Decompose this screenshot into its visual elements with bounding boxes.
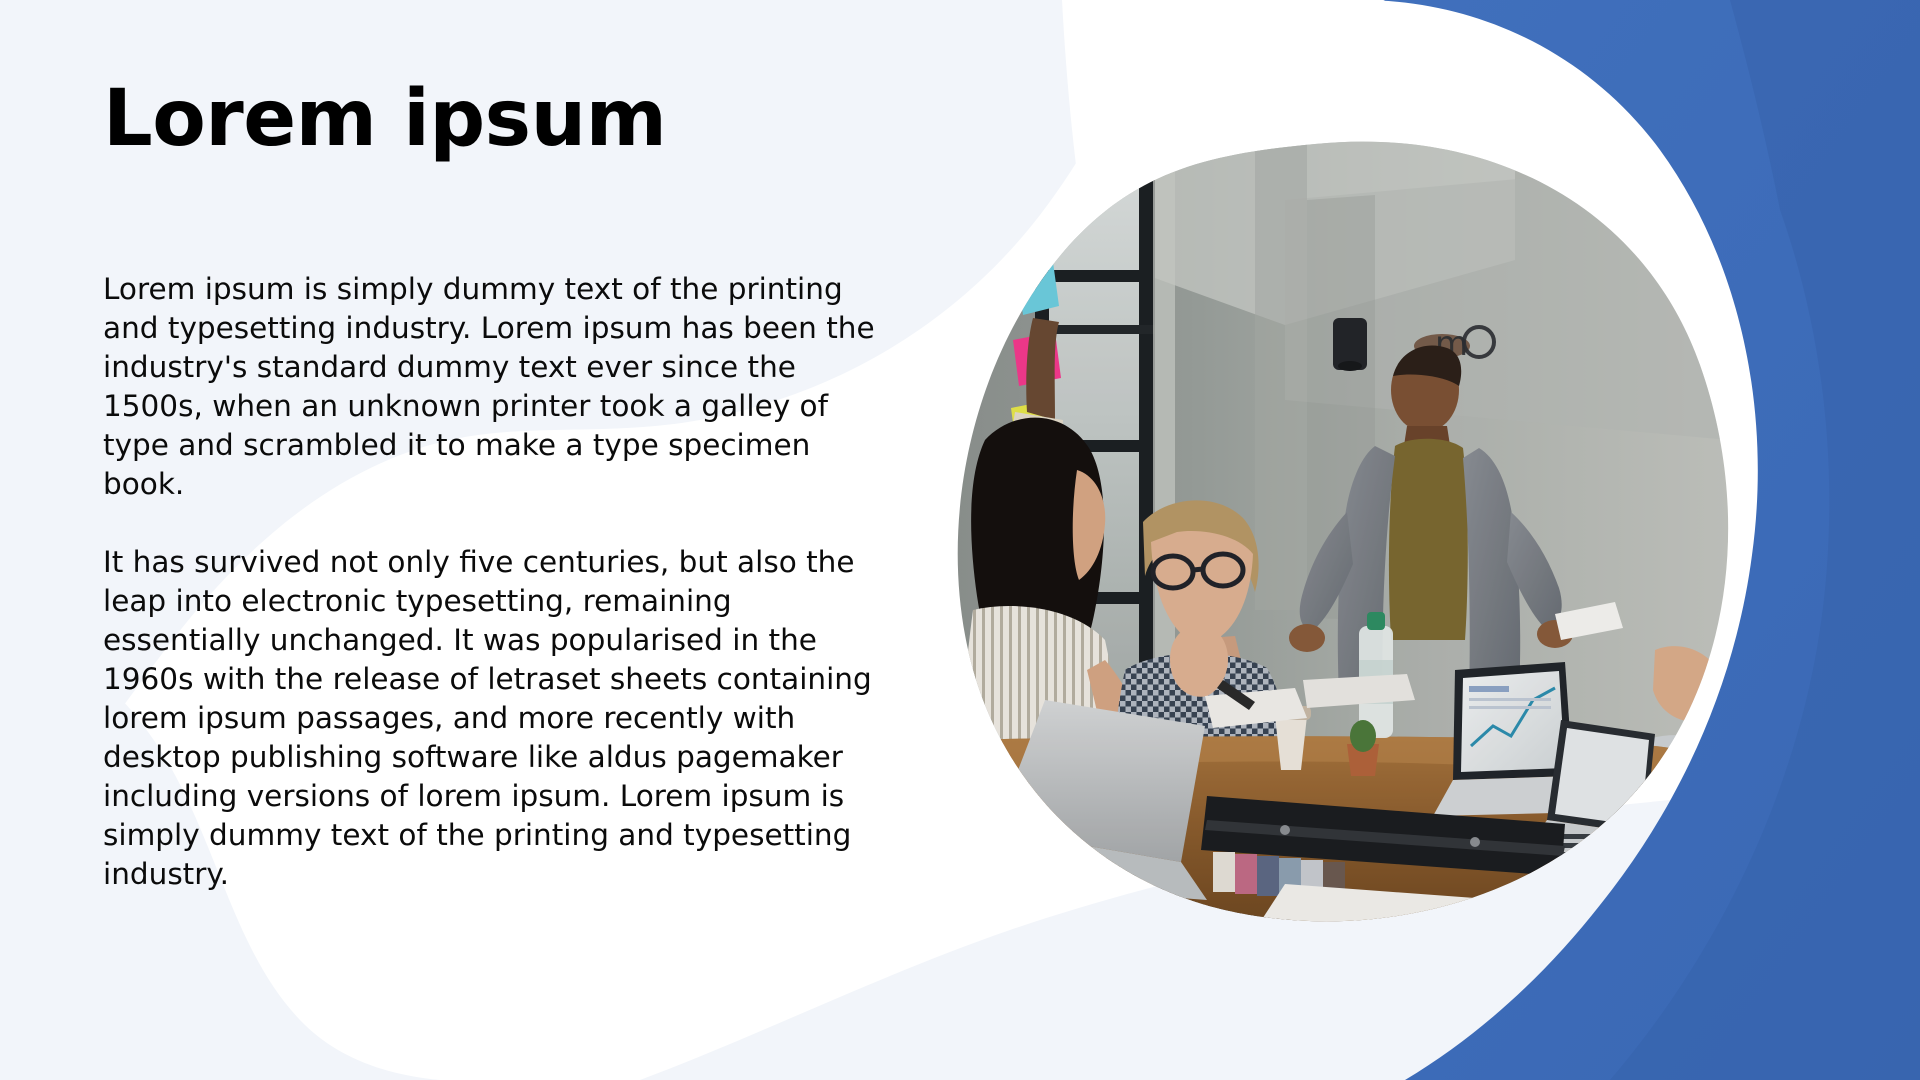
body-copy: Lorem ipsum is simply dummy text of the … xyxy=(103,270,893,894)
photo-scene: m xyxy=(955,140,1730,930)
slide-canvas: m xyxy=(0,0,1920,1080)
photo-blob-shape: m xyxy=(955,140,1730,930)
team-meeting-photo: m xyxy=(955,140,1730,930)
text-content: Lorem ipsum Lorem ipsum is simply dummy … xyxy=(103,80,923,894)
paragraph-1: Lorem ipsum is simply dummy text of the … xyxy=(103,270,888,504)
paragraph-2: It has survived not only five centuries,… xyxy=(103,543,888,894)
page-title: Lorem ipsum xyxy=(103,80,923,158)
